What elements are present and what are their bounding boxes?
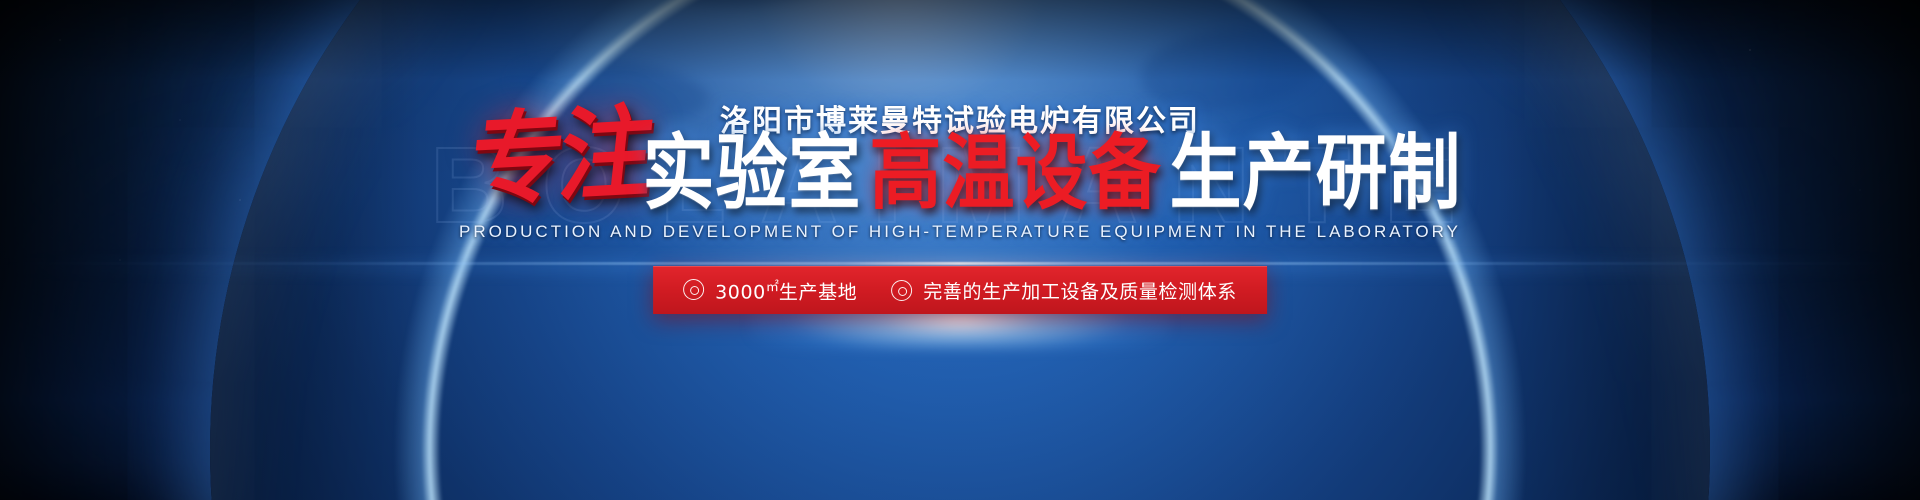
feature-unit: ㎡ [766, 280, 779, 295]
headline-white-part-2: 生产研制 [1166, 131, 1466, 218]
feature-item-quality-system[interactable]: 完善的生产加工设备及质量检测体系 [891, 277, 1237, 304]
feature-text: 3000㎡生产基地 [715, 276, 857, 304]
hero-banner: BOLAIMANTE 洛阳市博莱曼特试验电炉有限公司 专注 实验室 高温设备 生… [0, 0, 1920, 500]
headline: 专注 实验室 高温设备 生产研制 [0, 128, 1920, 218]
headline-brush-text: 专注 [454, 102, 661, 218]
feature-bar: 3000㎡生产基地 完善的生产加工设备及质量检测体系 [653, 266, 1267, 314]
double-circle-icon [683, 279, 704, 300]
feature-label: 生产基地 [779, 281, 857, 303]
subtitle-english: PRODUCTION AND DEVELOPMENT OF HIGH-TEMPE… [0, 222, 1920, 242]
headline-red-part: 高温设备 [865, 131, 1165, 218]
feature-label: 完善的生产加工设备及质量检测体系 [923, 277, 1237, 304]
double-circle-icon [891, 280, 912, 301]
headline-white-part-1: 实验室 [638, 131, 865, 218]
feature-number: 3000 [715, 281, 766, 303]
feature-item-production-base[interactable]: 3000㎡生产基地 [683, 276, 857, 304]
